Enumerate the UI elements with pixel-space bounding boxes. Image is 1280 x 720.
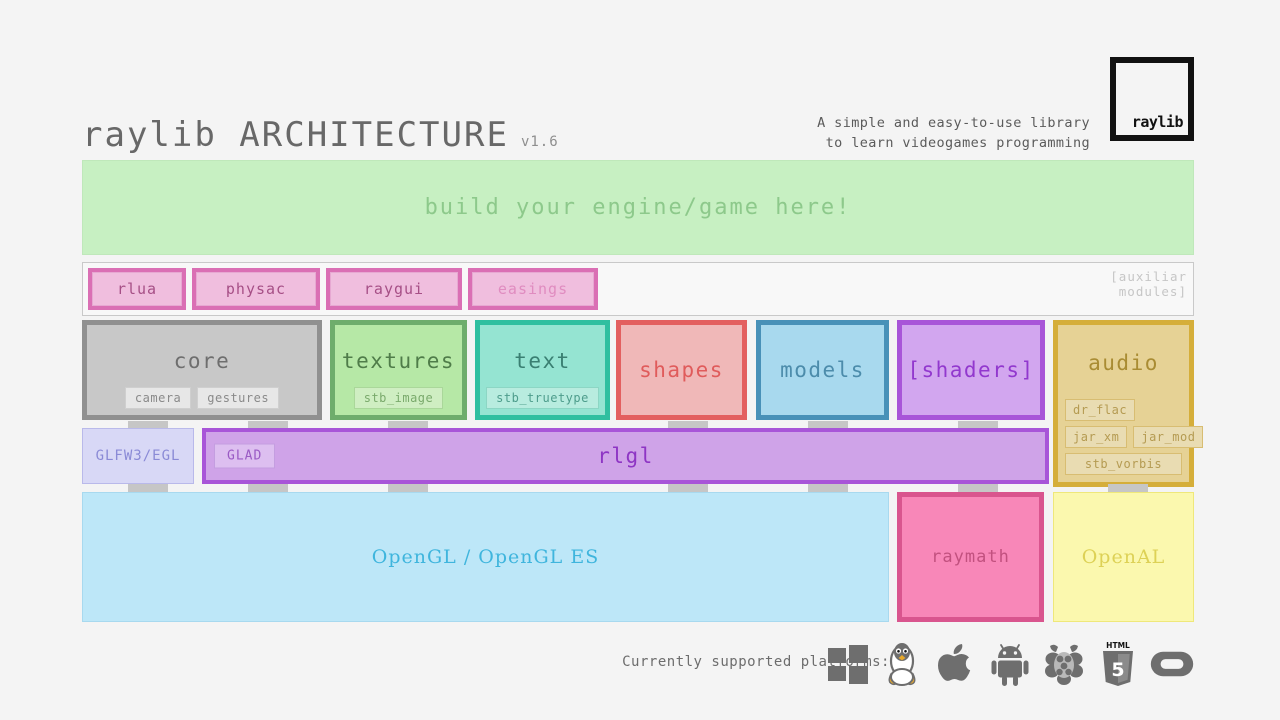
sub-module-gestures: gestures bbox=[197, 387, 279, 409]
title-text: raylib ARCHITECTURE bbox=[82, 115, 509, 155]
page-title: raylib ARCHITECTURE v1.6 bbox=[82, 115, 559, 155]
module-inner: texturesstb_image bbox=[335, 325, 462, 415]
aux-note-line-1: [auxiliar bbox=[1110, 269, 1187, 284]
sub-module-stb_truetype: stb_truetype bbox=[486, 387, 599, 409]
sub-module-row: stb_truetype bbox=[486, 387, 599, 409]
module-audio: audiodr_flacjar_xmjar_modstb_vorbis bbox=[1053, 320, 1194, 487]
module-title: core bbox=[174, 349, 231, 373]
module-title: textures bbox=[342, 349, 455, 373]
html5-icon: HTML5 bbox=[1096, 640, 1140, 688]
module-title: audio bbox=[1088, 351, 1159, 375]
module-shaders: [shaders] bbox=[897, 320, 1045, 420]
audio-sub-modules: dr_flacjar_xmjar_modstb_vorbis bbox=[1065, 394, 1182, 475]
aux-module-inner: rlua bbox=[92, 272, 182, 306]
version-label: v1.6 bbox=[521, 134, 559, 150]
sub-module-dr_flac: dr_flac bbox=[1065, 399, 1135, 421]
windows-icon bbox=[826, 640, 870, 688]
sub-module-jar_mod: jar_mod bbox=[1133, 426, 1203, 448]
header: raylib ARCHITECTURE v1.6 A simple and ea… bbox=[82, 105, 1194, 155]
aux-module-label: raygui bbox=[364, 280, 424, 298]
sub-module-glad: GLAD bbox=[214, 444, 275, 469]
layer-opengl: OpenGL / OpenGL ES bbox=[82, 492, 889, 622]
module-rlgl: GLAD rlgl bbox=[202, 428, 1049, 484]
module-inner: [shaders] bbox=[902, 325, 1040, 415]
oculus-icon bbox=[1150, 640, 1194, 688]
module-textures: texturesstb_image bbox=[330, 320, 467, 420]
aux-module-rlua: rlua bbox=[88, 268, 186, 310]
aux-module-inner: raygui bbox=[330, 272, 458, 306]
rlgl-label: rlgl bbox=[597, 444, 654, 468]
module-raymath: raymath bbox=[897, 492, 1044, 622]
svg-text:HTML: HTML bbox=[1106, 641, 1130, 650]
sub-module-row: stb_image bbox=[341, 387, 456, 409]
module-inner: shapes bbox=[621, 325, 742, 415]
openal-label: OpenAL bbox=[1082, 546, 1166, 568]
aux-module-raygui: raygui bbox=[326, 268, 462, 310]
apple-icon bbox=[934, 640, 978, 688]
glfw-label: GLFW3/EGL bbox=[96, 448, 181, 464]
audio-inner: audiodr_flacjar_xmjar_modstb_vorbis bbox=[1058, 325, 1189, 482]
sub-module-stb_image: stb_image bbox=[354, 387, 444, 409]
tagline-line-1: A simple and easy-to-use library bbox=[817, 113, 1090, 133]
sub-module-row: cameragestures bbox=[93, 387, 311, 409]
raylib-logo: raylib bbox=[1110, 57, 1194, 141]
opengl-label: OpenGL / OpenGL ES bbox=[372, 546, 599, 568]
audio-sub-row: stb_vorbis bbox=[1065, 453, 1182, 475]
module-title: [shaders] bbox=[907, 358, 1034, 382]
aux-module-label: easings bbox=[498, 280, 568, 298]
raspberrypi-icon bbox=[1042, 640, 1086, 688]
tagline: A simple and easy-to-use library to lear… bbox=[817, 113, 1090, 153]
aux-note-line-2: modules] bbox=[1110, 284, 1187, 299]
rlgl-inner: GLAD rlgl bbox=[206, 432, 1045, 480]
module-inner: corecameragestures bbox=[87, 325, 317, 415]
aux-module-label: rlua bbox=[117, 280, 157, 298]
module-inner: models bbox=[761, 325, 884, 415]
sub-module-stb_vorbis: stb_vorbis bbox=[1065, 453, 1182, 475]
layer-openal: OpenAL bbox=[1053, 492, 1194, 622]
platform-icon-row: HTML5 bbox=[826, 638, 1194, 690]
linux-icon bbox=[880, 640, 924, 688]
android-icon bbox=[988, 640, 1032, 688]
aux-module-label: physac bbox=[226, 280, 286, 298]
module-inner: textstb_truetype bbox=[480, 325, 605, 415]
svg-text:5: 5 bbox=[1111, 659, 1124, 681]
module-shapes: shapes bbox=[616, 320, 747, 420]
module-core: corecameragestures bbox=[82, 320, 322, 420]
module-models: models bbox=[756, 320, 889, 420]
auxiliary-modules-container: rluaphysacrayguieasings [auxiliar module… bbox=[82, 262, 1194, 316]
aux-module-inner: physac bbox=[196, 272, 316, 306]
module-text: textstb_truetype bbox=[475, 320, 610, 420]
module-glfw3-egl: GLFW3/EGL bbox=[82, 428, 194, 484]
audio-sub-row: jar_xmjar_mod bbox=[1065, 426, 1182, 448]
banner-label: build your engine/game here! bbox=[425, 195, 852, 220]
aux-module-easings: easings bbox=[468, 268, 598, 310]
module-title: shapes bbox=[639, 358, 724, 382]
build-here-banner: build your engine/game here! bbox=[82, 160, 1194, 255]
auxiliary-modules-note: [auxiliar modules] bbox=[1110, 269, 1187, 299]
audio-sub-row: dr_flac bbox=[1065, 399, 1182, 421]
tagline-line-2: to learn videogames programming bbox=[817, 133, 1090, 153]
raymath-label: raymath bbox=[931, 547, 1010, 567]
raymath-inner: raymath bbox=[902, 497, 1039, 617]
footer: Currently supported platforms: HTML5 bbox=[82, 638, 1194, 694]
aux-module-physac: physac bbox=[192, 268, 320, 310]
sub-module-camera: camera bbox=[125, 387, 191, 409]
aux-module-inner: easings bbox=[472, 272, 594, 306]
module-title: models bbox=[780, 358, 865, 382]
logo-label: raylib bbox=[1132, 113, 1188, 135]
sub-module-jar_xm: jar_xm bbox=[1065, 426, 1127, 448]
architecture-diagram: raylib ARCHITECTURE v1.6 A simple and ea… bbox=[0, 0, 1280, 720]
module-title: text bbox=[514, 349, 571, 373]
